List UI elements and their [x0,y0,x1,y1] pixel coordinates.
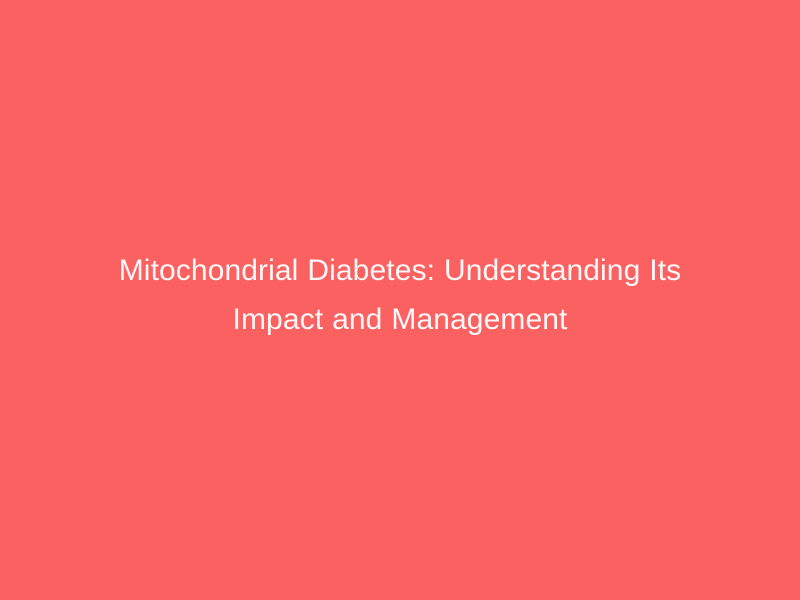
title-card: Mitochondrial Diabetes: Understanding It… [0,0,800,600]
title-block: Mitochondrial Diabetes: Understanding It… [90,246,710,344]
page-title: Mitochondrial Diabetes: Understanding It… [90,246,710,344]
